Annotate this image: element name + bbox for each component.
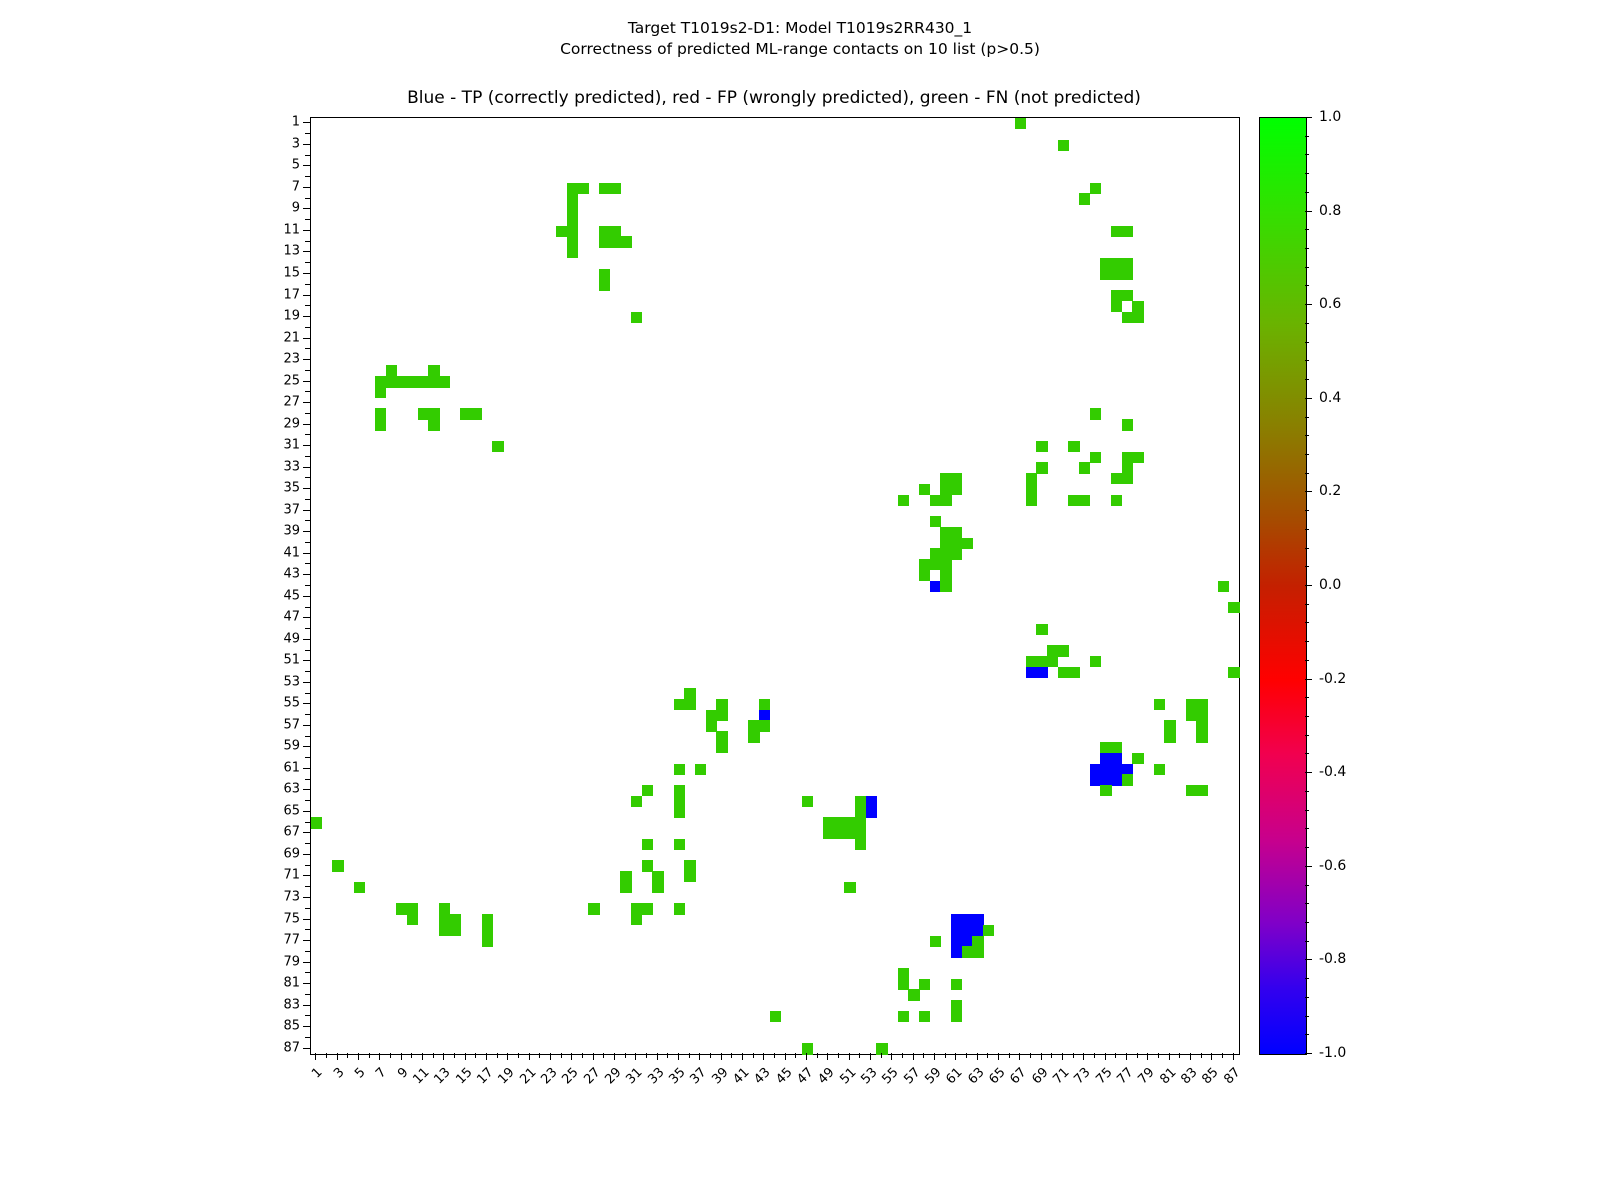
contact-cell — [962, 925, 973, 936]
y-axis-tick — [303, 789, 310, 790]
contact-cell — [802, 796, 813, 807]
x-axis-tick — [923, 1053, 924, 1058]
y-axis-tick — [305, 198, 310, 199]
contact-cell — [588, 903, 599, 914]
x-axis-tick — [603, 1053, 604, 1058]
contact-cell — [375, 387, 386, 398]
y-axis-tick — [303, 854, 310, 855]
x-axis-tick — [667, 1053, 668, 1058]
contact-cell — [674, 764, 685, 775]
contact-cell — [919, 570, 930, 581]
x-axis-tick — [390, 1053, 391, 1058]
figure-title-line-1: Target T1019s2-D1: Model T1019s2RR430_1 — [0, 18, 1600, 39]
contact-cell — [983, 925, 994, 936]
contact-cell — [1111, 742, 1122, 753]
x-axis-tick — [966, 1053, 967, 1058]
contact-cell — [1100, 764, 1111, 775]
y-axis-label: 85 — [254, 1019, 300, 1034]
x-axis-tick — [411, 1053, 412, 1058]
contact-cell — [940, 538, 951, 549]
contact-cell — [386, 365, 397, 376]
x-axis-tick — [742, 1053, 743, 1060]
x-axis-tick — [433, 1053, 434, 1058]
y-axis-tick — [305, 650, 310, 651]
contact-cells-layer — [311, 118, 1239, 1054]
contact-cell — [951, 1000, 962, 1011]
contact-cell — [951, 527, 962, 538]
contact-cell — [1122, 290, 1133, 301]
contact-cell — [834, 828, 845, 839]
x-axis-tick — [806, 1053, 807, 1060]
contact-cell — [1100, 269, 1111, 280]
colorbar-tick-label: -0.8 — [1319, 951, 1346, 967]
contact-cell — [1132, 753, 1143, 764]
y-axis-tick — [303, 962, 310, 963]
x-axis-tick — [977, 1053, 978, 1060]
y-axis-tick — [305, 155, 310, 156]
contact-cell — [930, 559, 941, 570]
y-axis-tick — [303, 531, 310, 532]
contact-cell — [748, 720, 759, 731]
colorbar-minor-tick — [1305, 622, 1309, 623]
contact-cell — [610, 236, 621, 247]
contact-cell — [972, 936, 983, 947]
contact-cell — [567, 215, 578, 226]
x-axis-tick — [710, 1053, 711, 1058]
colorbar-minor-tick — [1305, 1016, 1309, 1017]
colorbar-minor-tick — [1305, 716, 1309, 717]
colorbar-minor-tick — [1305, 454, 1309, 455]
x-axis-tick — [614, 1053, 615, 1060]
contact-cell — [428, 365, 439, 376]
x-axis-tick — [657, 1053, 658, 1060]
contact-cell — [396, 903, 407, 914]
x-axis-tick — [1137, 1053, 1138, 1058]
contact-cell — [940, 581, 951, 592]
contact-cell — [1058, 667, 1069, 678]
contact-cell — [1079, 495, 1090, 506]
y-axis-tick — [303, 467, 310, 468]
contact-cell — [930, 581, 941, 592]
contact-cell — [332, 860, 343, 871]
y-axis-tick — [305, 563, 310, 564]
y-axis-label: 17 — [254, 287, 300, 302]
contact-cell — [1122, 473, 1133, 484]
contact-cell — [1132, 312, 1143, 323]
colorbar-tick — [1305, 211, 1312, 212]
colorbar-minor-tick — [1305, 173, 1309, 174]
y-axis-label: 75 — [254, 911, 300, 926]
y-axis-label: 9 — [254, 201, 300, 216]
contact-cell — [1122, 312, 1133, 323]
x-axis-tick — [1201, 1053, 1202, 1058]
colorbar-tick-label: 0.6 — [1319, 296, 1341, 312]
contact-cell — [706, 710, 717, 721]
contact-cell — [1026, 484, 1037, 495]
y-axis-tick — [305, 327, 310, 328]
x-axis-tick — [582, 1053, 583, 1058]
y-axis-label: 21 — [254, 330, 300, 345]
contact-cell — [1111, 258, 1122, 269]
contact-cell — [1026, 656, 1037, 667]
contact-cell — [748, 731, 759, 742]
contact-cell — [823, 828, 834, 839]
contact-cell — [1122, 462, 1133, 473]
y-axis-tick — [305, 822, 310, 823]
x-axis-tick — [955, 1053, 956, 1060]
contact-cell — [439, 376, 450, 387]
y-axis-tick — [305, 800, 310, 801]
contact-cell — [428, 419, 439, 430]
x-axis-tick — [1051, 1053, 1052, 1058]
x-axis-tick — [571, 1053, 572, 1060]
contact-cell — [407, 376, 418, 387]
contact-cell — [567, 204, 578, 215]
colorbar-minor-tick — [1305, 229, 1309, 230]
colorbar-tick — [1305, 491, 1312, 492]
x-axis-tick — [347, 1053, 348, 1058]
x-axis-tick — [891, 1053, 892, 1060]
colorbar-minor-tick — [1305, 885, 1309, 886]
contact-cell — [556, 226, 567, 237]
contact-cell — [716, 699, 727, 710]
colorbar-tick-label: 0.4 — [1319, 390, 1341, 406]
y-axis-tick — [303, 359, 310, 360]
contact-cell — [1100, 785, 1111, 796]
contact-cell — [1111, 495, 1122, 506]
x-axis-tick — [774, 1053, 775, 1058]
y-axis-tick — [303, 165, 310, 166]
y-axis-tick — [303, 682, 310, 683]
x-axis-tick — [443, 1053, 444, 1060]
colorbar-minor-tick — [1305, 810, 1309, 811]
y-axis-tick — [305, 1015, 310, 1016]
x-axis-tick — [827, 1053, 828, 1060]
y-axis-tick — [305, 929, 310, 930]
contact-map-plot-area[interactable] — [310, 117, 1240, 1055]
y-axis-tick — [305, 499, 310, 500]
contact-cell — [1186, 699, 1197, 710]
contact-cell — [919, 979, 930, 990]
x-axis-tick — [422, 1053, 423, 1060]
contact-cell — [930, 936, 941, 947]
colorbar-minor-tick — [1305, 791, 1309, 792]
contact-cell — [631, 903, 642, 914]
contact-cell — [471, 408, 482, 419]
y-axis-tick — [303, 510, 310, 511]
x-axis-tick — [721, 1053, 722, 1060]
contact-cell — [1196, 731, 1207, 742]
y-axis-label: 1 — [254, 115, 300, 130]
x-axis-tick — [849, 1053, 850, 1060]
colorbar-tick — [1305, 679, 1312, 680]
contact-cell — [375, 376, 386, 387]
y-axis-tick — [305, 520, 310, 521]
contact-cell — [1164, 731, 1175, 742]
contact-cell — [1186, 710, 1197, 721]
x-axis-tick — [785, 1053, 786, 1060]
y-axis-tick — [305, 671, 310, 672]
colorbar-minor-tick — [1305, 323, 1309, 324]
y-axis-label: 7 — [254, 179, 300, 194]
contact-cell — [1090, 408, 1101, 419]
contact-cell — [578, 183, 589, 194]
contact-cell — [492, 441, 503, 452]
y-axis-label: 13 — [254, 244, 300, 259]
y-axis-label: 65 — [254, 803, 300, 818]
colorbar-tick — [1305, 1053, 1312, 1054]
y-axis-label: 41 — [254, 545, 300, 560]
contact-cell — [482, 925, 493, 936]
y-axis-tick — [305, 262, 310, 263]
colorbar-tick-label: -0.2 — [1319, 671, 1346, 687]
y-axis-label: 73 — [254, 890, 300, 905]
y-axis-tick — [303, 897, 310, 898]
contact-cell — [1154, 699, 1165, 710]
y-axis-label: 37 — [254, 502, 300, 517]
y-axis-label: 71 — [254, 868, 300, 883]
x-axis-tick — [337, 1053, 338, 1060]
contact-cell — [1111, 764, 1122, 775]
contact-cell — [674, 796, 685, 807]
contact-cell — [375, 408, 386, 419]
x-axis-tick — [539, 1053, 540, 1058]
contact-cell — [1122, 269, 1133, 280]
x-axis-tick — [1211, 1053, 1212, 1060]
y-axis-label: 51 — [254, 653, 300, 668]
contact-cell — [951, 914, 962, 925]
contact-cell — [631, 914, 642, 925]
x-axis-tick — [1019, 1053, 1020, 1060]
contact-cell — [898, 1011, 909, 1022]
contact-cell — [844, 817, 855, 828]
colorbar-minor-tick — [1305, 847, 1309, 848]
contact-cell — [962, 538, 973, 549]
contact-map-figure: Target T1019s2-D1: Model T1019s2RR430_1 … — [0, 0, 1600, 1200]
x-axis-tick — [465, 1053, 466, 1060]
x-axis-tick — [1041, 1053, 1042, 1060]
contact-cell — [1196, 720, 1207, 731]
y-axis-label: 15 — [254, 266, 300, 281]
contact-cell — [962, 946, 973, 957]
contact-cell — [770, 1011, 781, 1022]
contact-cell — [1111, 301, 1122, 312]
colorbar-minor-tick — [1305, 828, 1309, 829]
colorbar-tick-label: 0.8 — [1319, 203, 1341, 219]
y-axis-tick — [303, 230, 310, 231]
colorbar-minor-tick — [1305, 510, 1309, 511]
y-axis-tick — [303, 338, 310, 339]
colorbar-minor-tick — [1305, 192, 1309, 193]
contact-cell — [844, 828, 855, 839]
contact-cell — [759, 720, 770, 731]
contact-cell — [759, 699, 770, 710]
y-axis-label: 11 — [254, 222, 300, 237]
contact-cell — [567, 236, 578, 247]
y-axis-label: 35 — [254, 481, 300, 496]
contact-cell — [1068, 441, 1079, 452]
contact-cell — [631, 312, 642, 323]
x-axis-tick — [1009, 1053, 1010, 1058]
contact-cell — [951, 946, 962, 957]
contact-cell — [599, 226, 610, 237]
contact-cell — [460, 408, 471, 419]
contact-cell — [1100, 258, 1111, 269]
y-axis-label: 83 — [254, 997, 300, 1012]
contact-cell — [599, 183, 610, 194]
contact-cell — [1132, 452, 1143, 463]
contact-cell — [1122, 419, 1133, 430]
contact-cell — [855, 817, 866, 828]
contact-cell — [674, 807, 685, 818]
contact-cell — [1122, 764, 1133, 775]
contact-cell — [898, 979, 909, 990]
contact-cell — [620, 236, 631, 247]
contact-cell — [1111, 290, 1122, 301]
contact-cell — [716, 742, 727, 753]
x-axis-tick — [550, 1053, 551, 1060]
colorbar-minor-tick — [1305, 1034, 1309, 1035]
contact-cell — [610, 226, 621, 237]
y-axis-tick — [303, 746, 310, 747]
x-axis-tick — [454, 1053, 455, 1058]
contact-cell — [951, 936, 962, 947]
contact-cell — [1122, 226, 1133, 237]
y-axis-label: 49 — [254, 631, 300, 646]
contact-cell — [652, 882, 663, 893]
colorbar-minor-tick — [1305, 529, 1309, 530]
y-axis-tick — [303, 768, 310, 769]
y-axis-label: 19 — [254, 309, 300, 324]
x-axis-tick — [689, 1053, 690, 1058]
contact-cell — [716, 710, 727, 721]
y-axis-tick — [303, 1026, 310, 1027]
y-axis-tick — [303, 144, 310, 145]
contact-cell — [1068, 495, 1079, 506]
contact-cell — [940, 484, 951, 495]
contact-cell — [930, 495, 941, 506]
x-axis-tick — [859, 1053, 860, 1058]
x-axis-tick — [1083, 1053, 1084, 1060]
y-axis-tick — [303, 1048, 310, 1049]
y-axis-tick — [305, 1037, 310, 1038]
contact-cell — [951, 1011, 962, 1022]
y-axis-label: 33 — [254, 459, 300, 474]
y-axis-tick — [303, 875, 310, 876]
x-axis-tick — [763, 1053, 764, 1060]
contact-cell — [386, 376, 397, 387]
contact-cell — [674, 785, 685, 796]
contact-cell — [940, 473, 951, 484]
contact-cell — [1100, 774, 1111, 785]
contact-cell — [1058, 645, 1069, 656]
colorbar-tick — [1305, 304, 1312, 305]
colorbar-minor-tick — [1305, 548, 1309, 549]
contact-cell — [951, 473, 962, 484]
colorbar-tick — [1305, 585, 1312, 586]
y-axis-label: 59 — [254, 739, 300, 754]
contact-cell — [1186, 785, 1197, 796]
contact-cell — [1228, 602, 1239, 613]
y-axis-label: 47 — [254, 610, 300, 625]
contact-cell — [482, 914, 493, 925]
contact-cell — [599, 269, 610, 280]
y-axis-tick — [303, 811, 310, 812]
contact-cell — [1218, 581, 1229, 592]
x-axis-tick — [1169, 1053, 1170, 1060]
contact-cell — [1111, 753, 1122, 764]
colorbar-minor-tick — [1305, 978, 1309, 979]
contact-cell — [599, 236, 610, 247]
y-axis-tick — [305, 241, 310, 242]
x-axis-tick — [369, 1053, 370, 1058]
x-axis-tick — [753, 1053, 754, 1058]
contact-cell — [1196, 785, 1207, 796]
y-axis-tick — [305, 413, 310, 414]
y-axis-tick — [303, 660, 310, 661]
x-axis-tick — [486, 1053, 487, 1060]
contact-cell — [642, 860, 653, 871]
contact-cell — [930, 516, 941, 527]
contact-cell — [684, 871, 695, 882]
contact-cell — [407, 903, 418, 914]
colorbar-minor-tick — [1305, 660, 1309, 661]
colorbar-minor-tick — [1305, 154, 1309, 155]
y-axis-tick — [303, 940, 310, 941]
contact-cell — [855, 828, 866, 839]
y-axis-tick — [303, 553, 310, 554]
y-axis-tick — [305, 693, 310, 694]
contact-cell — [695, 764, 706, 775]
y-axis-label: 31 — [254, 438, 300, 453]
y-axis-label: 53 — [254, 674, 300, 689]
y-axis-tick — [305, 607, 310, 608]
y-axis-tick — [303, 983, 310, 984]
contact-cell — [1090, 452, 1101, 463]
contact-cell — [1090, 774, 1101, 785]
contact-cell — [567, 247, 578, 258]
x-axis-tick — [1105, 1053, 1106, 1060]
y-axis-tick — [303, 187, 310, 188]
colorbar-tick — [1305, 959, 1312, 960]
contact-cell — [855, 807, 866, 818]
contact-cell — [962, 914, 973, 925]
x-axis-tick — [1073, 1053, 1074, 1058]
y-axis-tick — [305, 736, 310, 737]
contact-cell — [439, 914, 450, 925]
x-axis-tick — [902, 1053, 903, 1058]
y-axis-tick — [303, 445, 310, 446]
y-axis-tick — [305, 908, 310, 909]
contact-cell — [706, 720, 717, 731]
contact-cell — [439, 925, 450, 936]
colorbar-minor-tick — [1305, 735, 1309, 736]
colorbar-minor-tick — [1305, 360, 1309, 361]
y-axis-label: 23 — [254, 352, 300, 367]
x-axis-tick — [561, 1053, 562, 1058]
contact-cell — [482, 936, 493, 947]
contact-cell — [759, 710, 770, 721]
y-axis-tick — [305, 176, 310, 177]
contact-cell — [1122, 258, 1133, 269]
contact-cell — [802, 1043, 813, 1054]
contact-cell — [834, 817, 845, 828]
contact-cell — [1228, 667, 1239, 678]
y-axis-tick — [305, 951, 310, 952]
y-axis-tick — [303, 424, 310, 425]
contact-cell — [951, 979, 962, 990]
x-axis-tick — [838, 1053, 839, 1058]
